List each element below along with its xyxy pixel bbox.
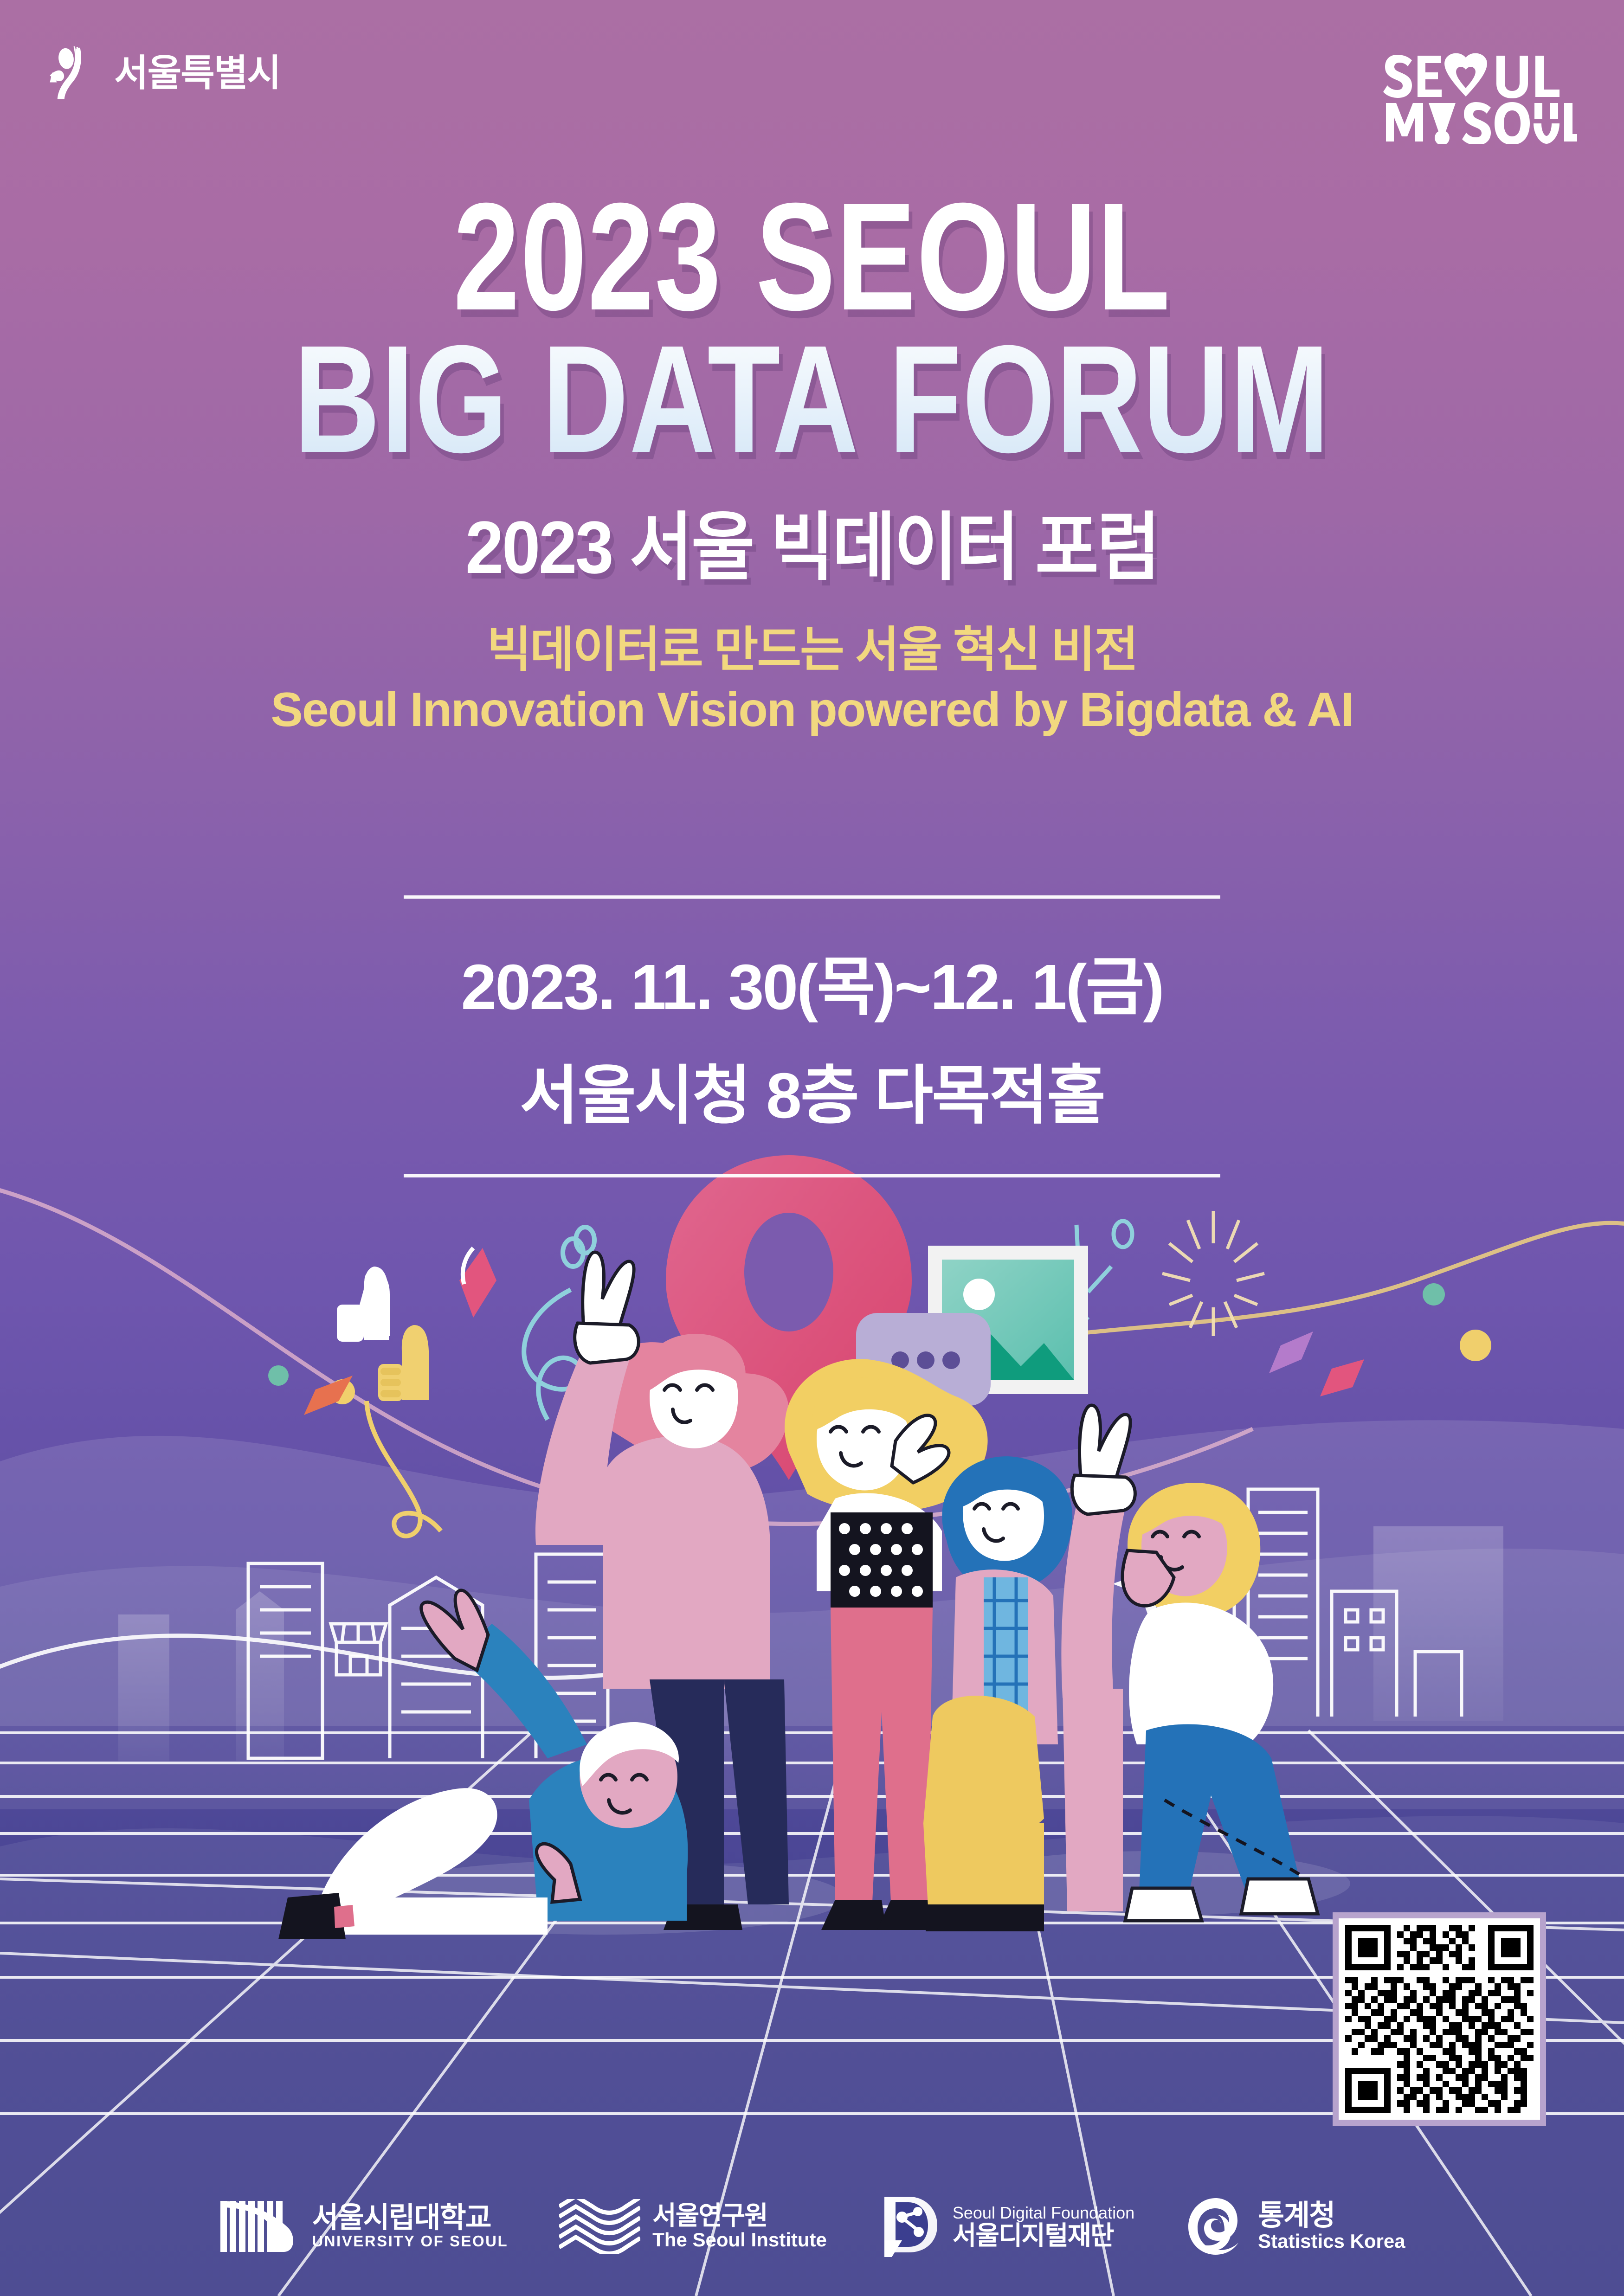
tagline-block: 빅데이터로 만드는 서울 혁신 비전 Seoul Innovation Visi…: [0, 622, 1624, 738]
page-title: 2023 SEOUL BIG DATA FORUM: [179, 186, 1445, 470]
person-blond-guy: [1122, 1483, 1318, 1921]
thumbs-up-icon: [378, 1325, 429, 1401]
qr-code-icon: [1345, 1925, 1534, 2113]
logo-label-en: The Seoul Institute: [652, 2229, 827, 2251]
person-blonde-polkadot: [785, 1359, 988, 1930]
logo-label-kr: 통계청: [1258, 2201, 1405, 2231]
speech-bubble-icon: [856, 1313, 991, 1441]
location-pin-icon: [666, 1155, 912, 1480]
poster-canvas: 서울특별시: [0, 0, 1624, 2296]
divider-bottom: [404, 1174, 1220, 1177]
person-lying-blue-shirt: [278, 1590, 688, 1939]
logo-seoul-digital-foundation: Seoul Digital Foundation 서울디지털재단: [878, 2194, 1134, 2259]
logo-seoul-institute: 서울연구원 The Seoul Institute: [559, 2199, 827, 2254]
title-block: 2023 SEOUL BIG DATA FORUM 2023 서울 빅데이터 포…: [0, 186, 1624, 738]
image-frame-icon: [928, 1246, 1088, 1394]
event-venue: 서울시청 8층 다목적홀: [0, 1043, 1624, 1136]
title-line-2: BIG DATA FORUM: [179, 328, 1445, 470]
seoul-city-logo: 서울특별시: [44, 44, 280, 102]
seoul-institute-wave-mark: [559, 2199, 640, 2254]
university-of-seoul-mark: [219, 2199, 300, 2254]
partner-logo-bar: 서울시립대학교 UNIVERSITY OF SEOUL 서울연구원 The Se…: [0, 2157, 1624, 2296]
logo-statistics-korea: 통계청 Statistics Korea: [1186, 2196, 1405, 2257]
thumbs-up-icon: [337, 1267, 390, 1342]
person-raised-arm-right: [1061, 1405, 1135, 1911]
tagline-korean: 빅데이터로 만드는 서울 혁신 비전: [0, 622, 1624, 679]
seoul-brand-mark: [44, 44, 102, 102]
logo-university-of-seoul: 서울시립대학교 UNIVERSITY OF SEOUL: [219, 2199, 508, 2254]
person-blue-hair: [923, 1456, 1072, 1931]
logo-label-en: Seoul Digital Foundation: [953, 2204, 1134, 2222]
statistics-korea-taegeuk-mark: [1186, 2196, 1246, 2257]
seoul-digital-foundation-mark: [878, 2194, 941, 2259]
logo-label-kr: 서울연구원: [652, 2202, 827, 2229]
logo-label-kr: 서울디지털재단: [953, 2222, 1134, 2249]
title-korean: 2023 서울 빅데이터 포럼: [57, 487, 1567, 595]
logo-label-en: Statistics Korea: [1258, 2231, 1405, 2252]
logo-label-kr: 서울시립대학교: [312, 2203, 508, 2233]
seoul-my-soul-logo: [1380, 37, 1580, 144]
qr-code[interactable]: [1333, 1912, 1546, 2126]
event-info-block: 2023. 11. 30(목)~12. 1(금) 서울시청 8층 다목적홀: [0, 895, 1624, 1177]
tagline-english: Seoul Innovation Vision powered by Bigda…: [0, 682, 1624, 739]
seoul-city-logo-label: 서울특별시: [114, 55, 280, 92]
logo-label-en: UNIVERSITY OF SEOUL: [312, 2233, 508, 2250]
person-pink-top: [535, 1252, 789, 1930]
event-date: 2023. 11. 30(목)~12. 1(금): [0, 935, 1624, 1028]
divider-top: [404, 895, 1220, 899]
